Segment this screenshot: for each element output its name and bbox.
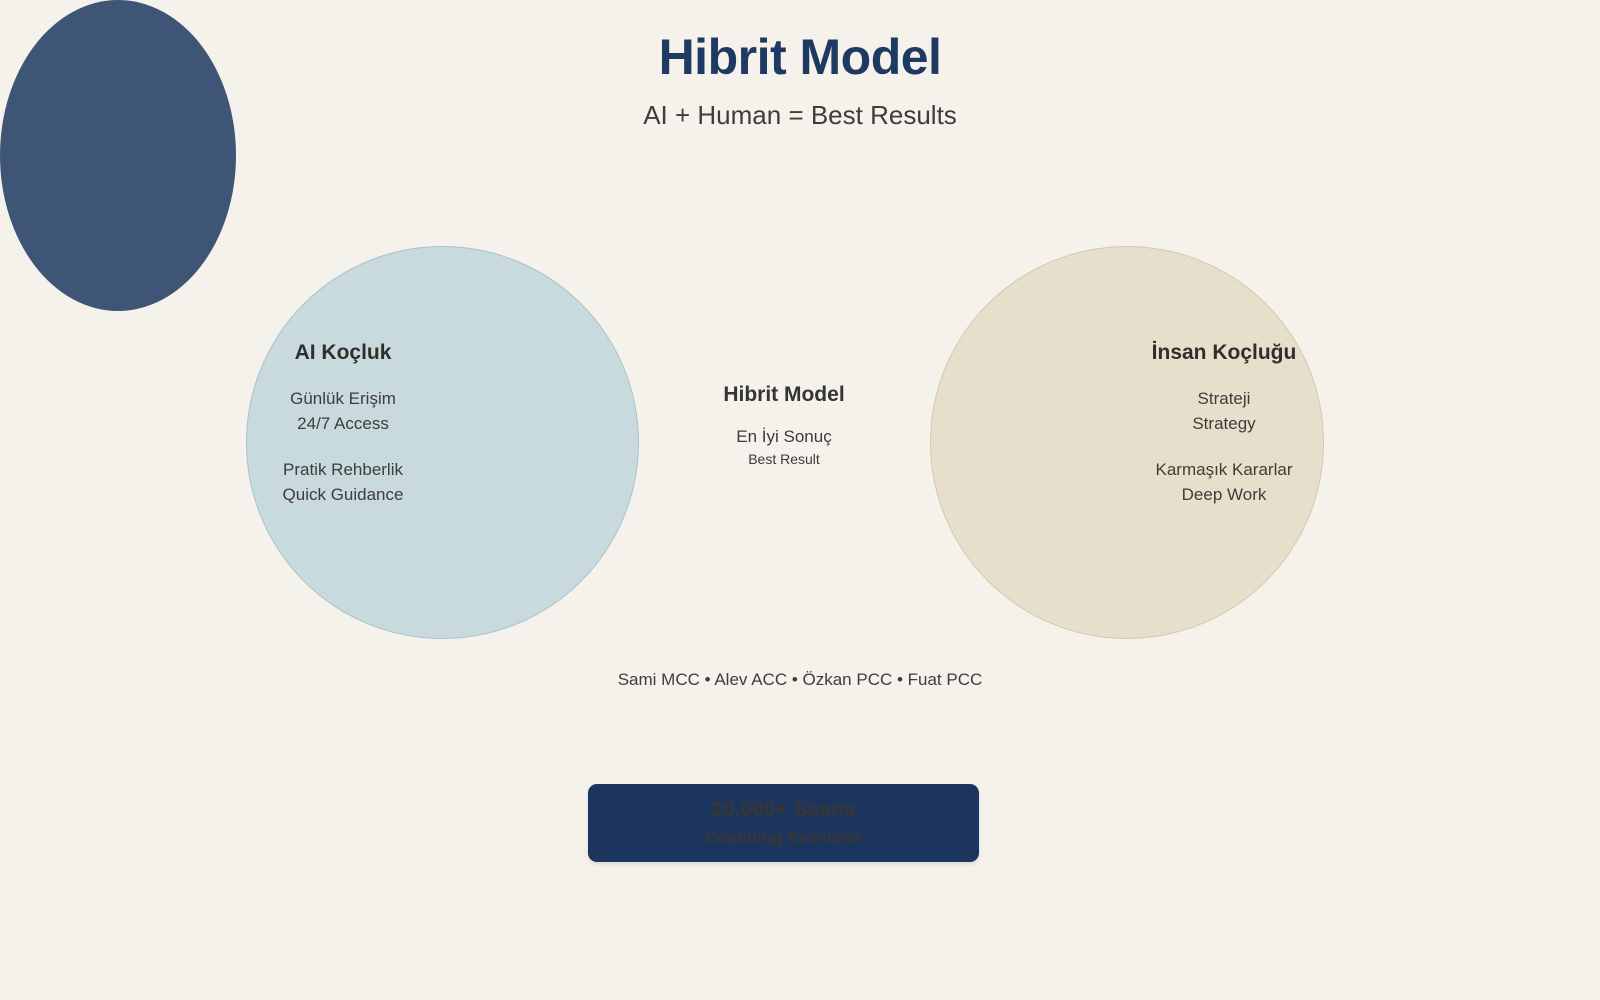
- venn-lobe-hybrid-item-1: En İyi Sonuç Best Result: [666, 426, 902, 470]
- venn-lobe-hybrid-model[interactable]: [0, 0, 236, 311]
- venn-lobe-ai-item-1-en: 24/7 Access: [246, 412, 440, 437]
- coach-credits: Sami MCC • Alev ACC • Özkan PCC • Fuat P…: [0, 669, 1600, 691]
- venn-lobe-human-item-2-en: Deep Work: [1127, 483, 1321, 508]
- venn-lobe-ai-item-2-en: Quick Guidance: [246, 483, 440, 508]
- venn-lobe-hybrid-item-1-en: Best Result: [666, 450, 902, 470]
- venn-lobe-ai-item-1: Günlük Erişim 24/7 Access: [246, 387, 440, 436]
- venn-lobe-human-content: İnsan Koçluğu Strateji Strategy Karmaşık…: [1127, 340, 1321, 508]
- venn-lobe-human-item-1: Strateji Strategy: [1127, 387, 1321, 436]
- venn-lobe-ai-content: AI Koçluk Günlük Erişim 24/7 Access Prat…: [246, 340, 440, 508]
- venn-lobe-ai-item-2-tr: Pratik Rehberlik: [246, 458, 440, 483]
- venn-lobe-ai-item-1-tr: Günlük Erişim: [246, 387, 440, 412]
- venn-lobe-human-item-2-tr: Karmaşık Kararlar: [1127, 458, 1321, 483]
- stat-caption: Coaching Sessions: [705, 827, 862, 849]
- coaching-sessions-stat-button[interactable]: 20,000+ Seans Coaching Sessions: [588, 784, 979, 862]
- hibrit-model-page: Hibrit Model AI + Human = Best Results A…: [0, 0, 1600, 1000]
- venn-lobe-human-item-2: Karmaşık Kararlar Deep Work: [1127, 458, 1321, 507]
- venn-lobe-hybrid-content: Hibrit Model En İyi Sonuç Best Result: [666, 382, 902, 470]
- venn-lobe-ai-heading: AI Koçluk: [246, 340, 440, 365]
- stat-number: 20,000+ Seans: [711, 797, 855, 823]
- venn-lobe-human-item-1-tr: Strateji: [1127, 387, 1321, 412]
- venn-lobe-human-heading: İnsan Koçluğu: [1127, 340, 1321, 365]
- venn-lobe-hybrid-item-1-tr: En İyi Sonuç: [666, 426, 902, 448]
- venn-lobe-ai-item-2: Pratik Rehberlik Quick Guidance: [246, 458, 440, 507]
- venn-lobe-human-item-1-en: Strategy: [1127, 412, 1321, 437]
- venn-lobe-hybrid-heading: Hibrit Model: [666, 382, 902, 407]
